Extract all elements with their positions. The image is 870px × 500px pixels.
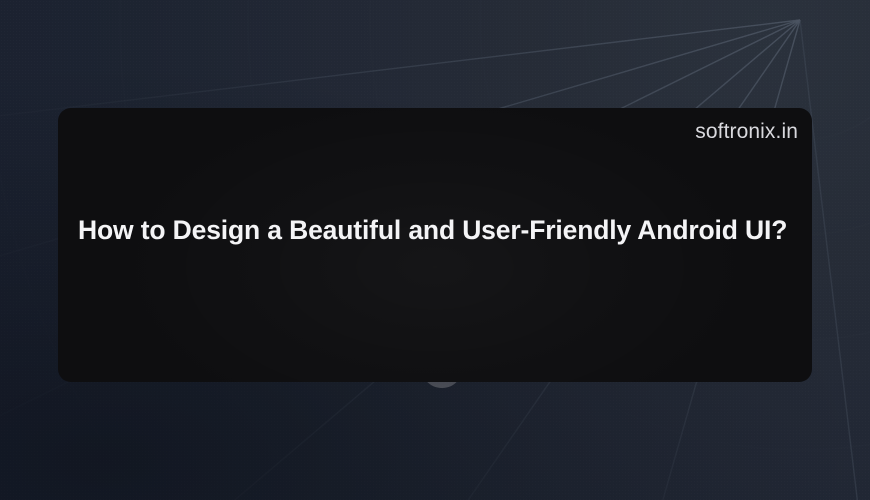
page-title: How to Design a Beautiful and User-Frien… (78, 212, 808, 248)
cover-canvas: softronix.in How to Design a Beautiful a… (0, 0, 870, 500)
brand-label: softronix.in (695, 119, 798, 145)
article-card: softronix.in How to Design a Beautiful a… (58, 108, 812, 382)
